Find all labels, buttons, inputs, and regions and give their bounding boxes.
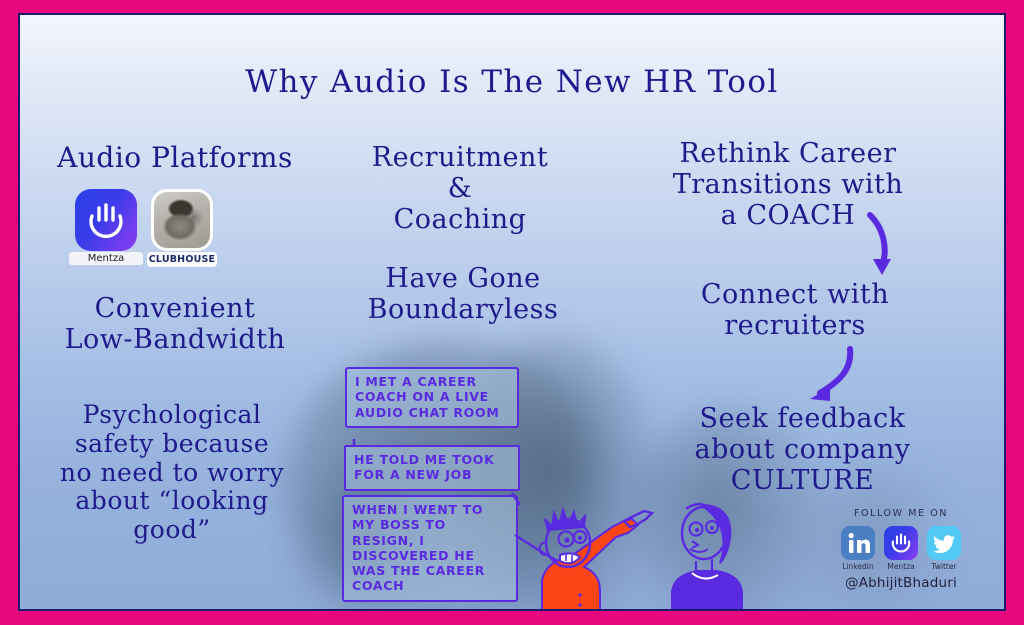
woman-purple-top	[672, 504, 742, 611]
linkedin-icon	[841, 526, 875, 560]
boundaryless-text: Have Gone Boundaryless	[338, 263, 588, 325]
recruitment-coaching-text: Recruitment & Coaching	[340, 142, 580, 235]
psychological-safety-text: Psychological safety because no need to …	[22, 401, 322, 545]
convenient-low-bandwidth-text: Convenient Low-Bandwidth	[30, 293, 320, 355]
mentza-app-icon	[75, 189, 137, 251]
mentza-app-label: Mentza	[69, 252, 143, 265]
twitter-icon	[927, 526, 961, 560]
cartoon-characters-illustration	[520, 485, 770, 611]
speech-bubble-2: HE TOLD ME TOOK FOR A NEW JOB	[344, 445, 520, 491]
mentza-icon	[884, 526, 918, 560]
poster-inner-frame: Why Audio Is The New HR Tool Audio Platf…	[18, 13, 1006, 611]
author-handle: @AbhijitBhaduri	[826, 575, 976, 591]
connect-with-recruiters-text: Connect with recruiters	[660, 279, 930, 341]
speech-bubble-3: WHEN I WENT TO MY BOSS TO RESIGN, I DISC…	[342, 495, 518, 602]
social-linkedin[interactable]: LinkedIn	[841, 526, 875, 571]
social-mentza[interactable]: Mentza	[884, 526, 918, 571]
social-twitter[interactable]: Twitter	[927, 526, 961, 571]
social-twitter-label: Twitter	[927, 562, 961, 571]
audio-platforms-heading: Audio Platforms	[30, 142, 320, 174]
follow-me-label: FOLLOW ME ON	[826, 508, 976, 519]
social-mentza-label: Mentza	[884, 562, 918, 571]
clubhouse-app-icon	[151, 189, 213, 251]
clubhouse-app-label: CLUBHOUSE	[147, 252, 217, 267]
curved-down-left-arrow	[800, 343, 860, 405]
app-tile-mentza[interactable]: Mentza	[75, 189, 137, 251]
curved-down-arrow	[858, 211, 904, 279]
follow-me-block: FOLLOW ME ON LinkedIn	[826, 508, 976, 591]
social-icon-row: LinkedIn Mentza	[826, 526, 976, 571]
clubhouse-portrait-photo	[154, 192, 210, 248]
seek-feedback-culture-text: Seek feedback about company CULTURE	[670, 403, 935, 496]
speech-bubble-1: I MET A CAREER COACH ON A LIVE AUDIO CHA…	[345, 367, 519, 428]
page-title: Why Audio Is The New HR Tool	[20, 65, 1004, 101]
infographic-poster: Why Audio Is The New HR Tool Audio Platf…	[0, 0, 1024, 625]
pointing-man-orange-shirt	[539, 510, 652, 611]
app-icon-row: Mentza CLUBHOUSE	[75, 189, 275, 251]
social-linkedin-label: LinkedIn	[841, 562, 875, 571]
app-tile-clubhouse[interactable]: CLUBHOUSE	[151, 189, 213, 251]
